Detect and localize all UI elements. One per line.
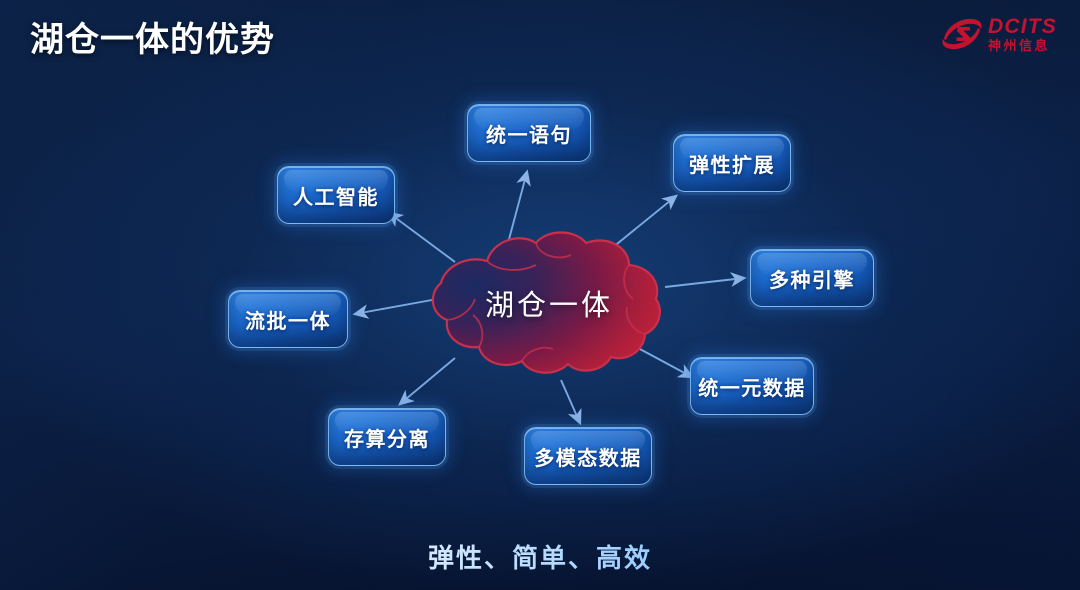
node-elastic-scaling[interactable]: 弹性扩展 xyxy=(673,134,791,192)
node-unified-syntax[interactable]: 统一语句 xyxy=(467,104,591,162)
node-label: 统一元数据 xyxy=(698,372,806,401)
node-multimodal-data[interactable]: 多模态数据 xyxy=(524,427,652,485)
arrow-to-multi-engine xyxy=(665,278,744,287)
node-multi-engine[interactable]: 多种引擎 xyxy=(750,249,874,307)
slide-canvas: 湖仓一体的优势 DCITS 神州信息 xyxy=(0,0,1080,590)
node-label: 流批一体 xyxy=(245,305,331,334)
node-label: 存算分离 xyxy=(344,423,430,452)
node-stream-batch-unified[interactable]: 流批一体 xyxy=(228,290,348,348)
node-label: 统一语句 xyxy=(486,119,572,148)
advantages-diagram: 湖仓一体 统一语句弹性扩展人工智能多种引擎流批一体统一元数据存算分离多模态数据 xyxy=(0,0,1080,590)
center-cloud-label: 湖仓一体 xyxy=(423,227,667,379)
center-cloud: 湖仓一体 xyxy=(423,227,667,379)
slide-tagline: 弹性、简单、高效 xyxy=(0,538,1080,575)
arrow-to-stream-batch xyxy=(355,300,432,314)
node-unified-metadata[interactable]: 统一元数据 xyxy=(690,357,814,415)
node-label: 弹性扩展 xyxy=(689,149,775,178)
node-storage-compute-sep[interactable]: 存算分离 xyxy=(328,408,446,466)
arrow-to-multimodal-data xyxy=(561,380,580,423)
node-label: 多模态数据 xyxy=(534,442,642,471)
node-label: 人工智能 xyxy=(293,181,379,210)
node-ai[interactable]: 人工智能 xyxy=(277,166,395,224)
node-label: 多种引擎 xyxy=(769,264,855,293)
